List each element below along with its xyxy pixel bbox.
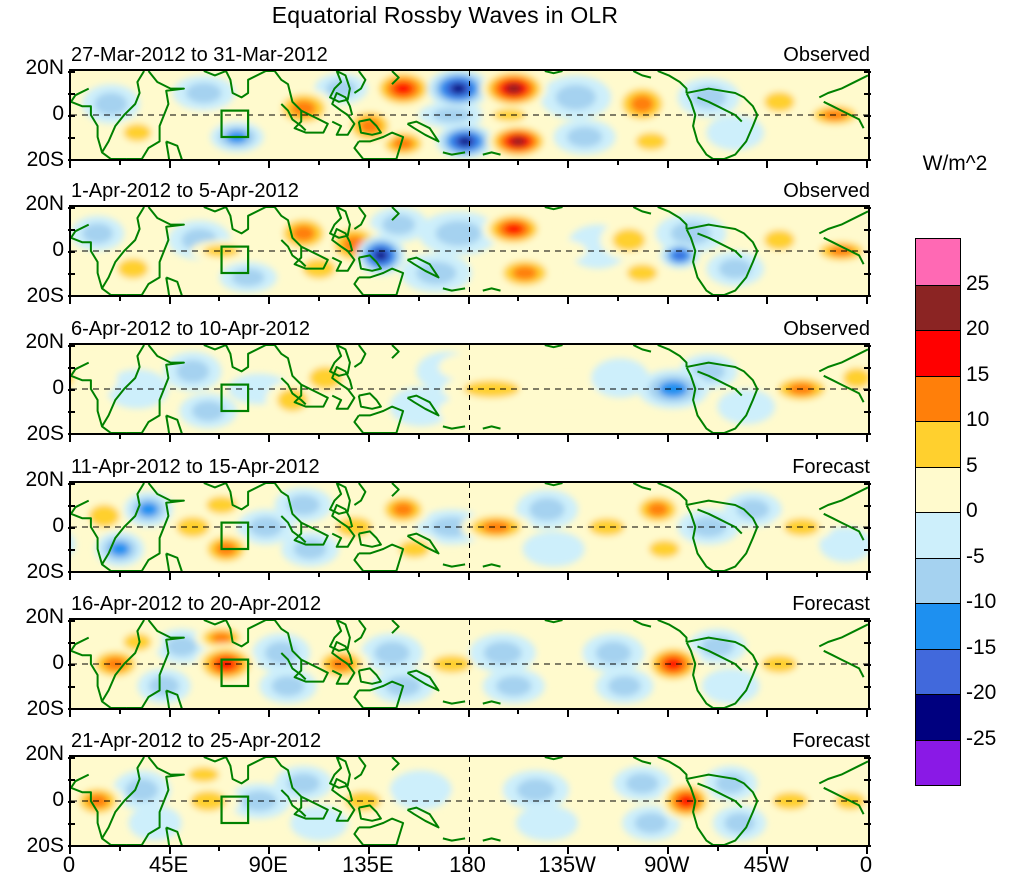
x-tick (418, 435, 420, 439)
x-tick (717, 573, 719, 577)
colorbar-band[interactable] (916, 421, 960, 467)
x-tick (218, 435, 220, 439)
y-tick-label: 20S (0, 148, 64, 172)
x-tick (667, 573, 669, 580)
x-tick-row (69, 710, 870, 717)
panel-date-range: 21-Apr-2012 to 25-Apr-2012 (71, 730, 321, 753)
y-tick-label: 0 (0, 651, 64, 675)
y-tick (68, 251, 75, 253)
x-tick (617, 573, 619, 577)
y-tick-label: 0 (0, 376, 64, 400)
panel-status-label: Forecast (792, 593, 870, 616)
x-tick (69, 161, 71, 168)
y-tick (864, 757, 871, 759)
panel-date-range: 16-Apr-2012 to 20-Apr-2012 (71, 593, 321, 616)
x-tick (766, 435, 768, 442)
x-axis-label: 45E (149, 852, 188, 878)
y-tick (864, 207, 871, 209)
x-tick (517, 847, 519, 851)
x-tick (567, 435, 569, 442)
x-tick (816, 297, 818, 301)
x-tick (418, 297, 420, 301)
plot-area-4[interactable] (69, 481, 870, 573)
y-tick-label: 20N (0, 468, 64, 492)
plot-area-1[interactable] (69, 69, 870, 161)
y-tick (68, 345, 75, 347)
y-tick (68, 389, 75, 391)
y-tick (68, 93, 75, 95)
x-tick (368, 435, 370, 442)
y-tick-label: 20S (0, 284, 64, 308)
x-tick (119, 847, 121, 851)
x-tick (517, 710, 519, 714)
y-tick (68, 823, 75, 825)
colorbar-tick-label: -20 (966, 681, 996, 705)
x-tick (866, 161, 868, 168)
colorbar-band[interactable] (916, 558, 960, 604)
colorbar-band[interactable] (916, 376, 960, 422)
y-tick (864, 93, 871, 95)
x-tick (318, 297, 320, 301)
x-tick (866, 573, 868, 580)
panel-status-label: Forecast (792, 456, 870, 479)
y-tick (68, 273, 75, 275)
x-tick (218, 161, 220, 165)
colorbar-tick-label: 0 (966, 499, 978, 523)
x-tick (567, 297, 569, 304)
y-tick (68, 115, 75, 117)
x-tick (418, 161, 420, 165)
x-tick (218, 710, 220, 714)
x-axis-label: 90W (644, 852, 689, 878)
x-tick (169, 435, 171, 442)
colorbar-tick-label: 20 (966, 317, 989, 341)
y-tick-label: 0 (0, 514, 64, 538)
y-tick-label: 20S (0, 834, 64, 858)
x-tick (617, 847, 619, 851)
x-tick (766, 710, 768, 717)
x-tick (268, 297, 270, 304)
x-tick (318, 435, 320, 439)
x-tick (268, 435, 270, 442)
x-tick (218, 847, 220, 851)
x-tick (468, 161, 470, 168)
x-tick (218, 573, 220, 577)
y-tick (864, 411, 871, 413)
x-tick (368, 710, 370, 717)
x-tick (119, 435, 121, 439)
y-tick-label: 20S (0, 697, 64, 721)
x-tick (368, 161, 370, 168)
y-tick (68, 207, 75, 209)
x-tick (617, 435, 619, 439)
y-tick-label: 0 (0, 788, 64, 812)
x-tick (816, 573, 818, 577)
colorbar-band[interactable] (916, 740, 960, 786)
x-tick-row (69, 435, 870, 442)
x-tick (717, 847, 719, 851)
y-tick (68, 411, 75, 413)
y-tick (864, 686, 871, 688)
x-axis-label: 45W (744, 852, 789, 878)
x-tick (318, 710, 320, 714)
x-tick (69, 435, 71, 442)
y-tick (864, 483, 871, 485)
x-tick (368, 297, 370, 304)
x-tick (119, 161, 121, 165)
y-tick (68, 71, 75, 73)
y-tick (864, 642, 871, 644)
colorbar-tick-label: 15 (966, 363, 989, 387)
y-tick (68, 664, 75, 666)
y-tick-label: 20S (0, 422, 64, 446)
panel-date-range: 1-Apr-2012 to 5-Apr-2012 (71, 180, 299, 203)
colorbar-tick-label: -25 (966, 727, 996, 751)
x-tick (617, 710, 619, 714)
y-tick (864, 345, 871, 347)
panel-field-6 (71, 757, 868, 845)
x-tick (717, 161, 719, 165)
x-tick (268, 161, 270, 168)
x-tick (468, 573, 470, 580)
plot-area-5[interactable] (69, 618, 870, 710)
plot-area-3[interactable] (69, 343, 870, 435)
x-tick (169, 710, 171, 717)
x-tick (418, 710, 420, 714)
panel-status-label: Observed (783, 44, 870, 67)
colorbar-tick-label: 25 (966, 272, 989, 296)
y-tick (864, 229, 871, 231)
panel-status-label: Observed (783, 180, 870, 203)
x-tick (268, 573, 270, 580)
x-tick-row (69, 297, 870, 304)
y-tick (864, 367, 871, 369)
x-tick (69, 297, 71, 304)
colorbar-band[interactable] (916, 649, 960, 695)
y-tick (864, 527, 871, 529)
colorbar-tick-label: -15 (966, 636, 996, 660)
panel-date-range: 6-Apr-2012 to 10-Apr-2012 (71, 318, 310, 341)
y-tick-label: 20N (0, 742, 64, 766)
plot-area-2[interactable] (69, 205, 870, 297)
x-tick (318, 847, 320, 851)
y-tick-label: 0 (0, 238, 64, 262)
y-tick (68, 527, 75, 529)
x-tick (268, 710, 270, 717)
x-tick (517, 297, 519, 301)
y-tick (864, 505, 871, 507)
y-tick (68, 483, 75, 485)
x-tick (816, 847, 818, 851)
y-tick-label: 20N (0, 192, 64, 216)
y-tick-label: 0 (0, 102, 64, 126)
x-tick (69, 573, 71, 580)
x-tick (567, 161, 569, 168)
y-tick (68, 229, 75, 231)
x-tick (69, 710, 71, 717)
plot-area-6[interactable] (69, 755, 870, 847)
y-tick (864, 273, 871, 275)
y-tick (864, 71, 871, 73)
x-tick (517, 435, 519, 439)
x-tick (866, 435, 868, 442)
x-tick (567, 710, 569, 717)
x-axis: 045E90E135E180135W90W45W0 (69, 852, 870, 882)
colorbar-tick-label: 10 (966, 408, 989, 432)
x-tick (717, 710, 719, 714)
x-tick (318, 161, 320, 165)
colorbar-band[interactable] (916, 285, 960, 331)
panel-status-label: Observed (783, 318, 870, 341)
x-tick (617, 161, 619, 165)
y-tick (68, 757, 75, 759)
y-tick (864, 137, 871, 139)
x-tick (119, 710, 121, 714)
y-tick (864, 823, 871, 825)
x-tick (119, 573, 121, 577)
y-tick (68, 642, 75, 644)
x-tick (766, 161, 768, 168)
colorbar[interactable] (915, 238, 961, 786)
x-tick (169, 573, 171, 580)
x-tick (119, 297, 121, 301)
x-axis-label: 180 (449, 852, 486, 878)
x-tick-row (69, 161, 870, 168)
colorbar-band[interactable] (916, 512, 960, 558)
x-tick (717, 297, 719, 301)
colorbar-tick-label: 5 (966, 454, 978, 478)
colorbar-tick-label: -5 (966, 545, 985, 569)
x-tick (816, 435, 818, 439)
y-tick (68, 137, 75, 139)
x-tick (667, 710, 669, 717)
y-tick (864, 115, 871, 117)
x-tick (816, 710, 818, 714)
y-tick-label: 20N (0, 605, 64, 629)
x-tick (866, 710, 868, 717)
x-tick (368, 573, 370, 580)
panel-field-4 (71, 483, 868, 571)
x-tick (517, 573, 519, 577)
y-tick (864, 251, 871, 253)
x-tick (667, 297, 669, 304)
colorbar-band[interactable] (916, 467, 960, 513)
y-tick-label: 20N (0, 330, 64, 354)
x-axis-label: 0 (860, 852, 872, 878)
x-tick (667, 435, 669, 442)
x-tick (667, 161, 669, 168)
y-tick (68, 779, 75, 781)
x-axis-label: 90E (249, 852, 288, 878)
x-tick (468, 710, 470, 717)
y-tick (68, 505, 75, 507)
y-tick (864, 779, 871, 781)
y-tick (864, 664, 871, 666)
x-tick (468, 297, 470, 304)
x-tick (468, 435, 470, 442)
y-tick (864, 801, 871, 803)
x-tick (866, 297, 868, 304)
x-tick (418, 573, 420, 577)
x-axis-label: 0 (63, 852, 75, 878)
panel-status-label: Forecast (792, 730, 870, 753)
colorbar-band[interactable] (916, 603, 960, 649)
panel-field-2 (71, 207, 868, 295)
panel-date-range: 11-Apr-2012 to 15-Apr-2012 (71, 456, 320, 479)
colorbar-band[interactable] (916, 239, 960, 285)
y-tick (864, 389, 871, 391)
panel-field-3 (71, 345, 868, 433)
y-tick-label: 20N (0, 56, 64, 80)
x-tick-row (69, 573, 870, 580)
y-tick (68, 620, 75, 622)
panel-date-range: 27-Mar-2012 to 31-Mar-2012 (71, 44, 328, 67)
y-tick (864, 549, 871, 551)
y-tick (68, 801, 75, 803)
x-tick (766, 297, 768, 304)
x-tick (418, 847, 420, 851)
x-axis-label: 135E (342, 852, 393, 878)
colorbar-band[interactable] (916, 330, 960, 376)
page-title: Equatorial Rossby Waves in OLR (0, 2, 890, 29)
x-axis-label: 135W (538, 852, 595, 878)
colorbar-tick-label: -10 (966, 590, 996, 614)
x-tick (517, 161, 519, 165)
y-tick (864, 620, 871, 622)
y-tick (68, 367, 75, 369)
x-tick (169, 161, 171, 168)
panel-field-1 (71, 71, 868, 159)
x-tick (816, 161, 818, 165)
x-tick (766, 573, 768, 580)
x-tick (318, 573, 320, 577)
y-tick (68, 686, 75, 688)
colorbar-units: W/m^2 (900, 152, 1010, 176)
y-tick-label: 20S (0, 560, 64, 584)
panel-field-5 (71, 620, 868, 708)
colorbar-band[interactable] (916, 694, 960, 740)
x-tick (169, 297, 171, 304)
x-tick (218, 297, 220, 301)
y-tick (68, 549, 75, 551)
x-tick (617, 297, 619, 301)
x-tick (567, 573, 569, 580)
x-tick (717, 435, 719, 439)
